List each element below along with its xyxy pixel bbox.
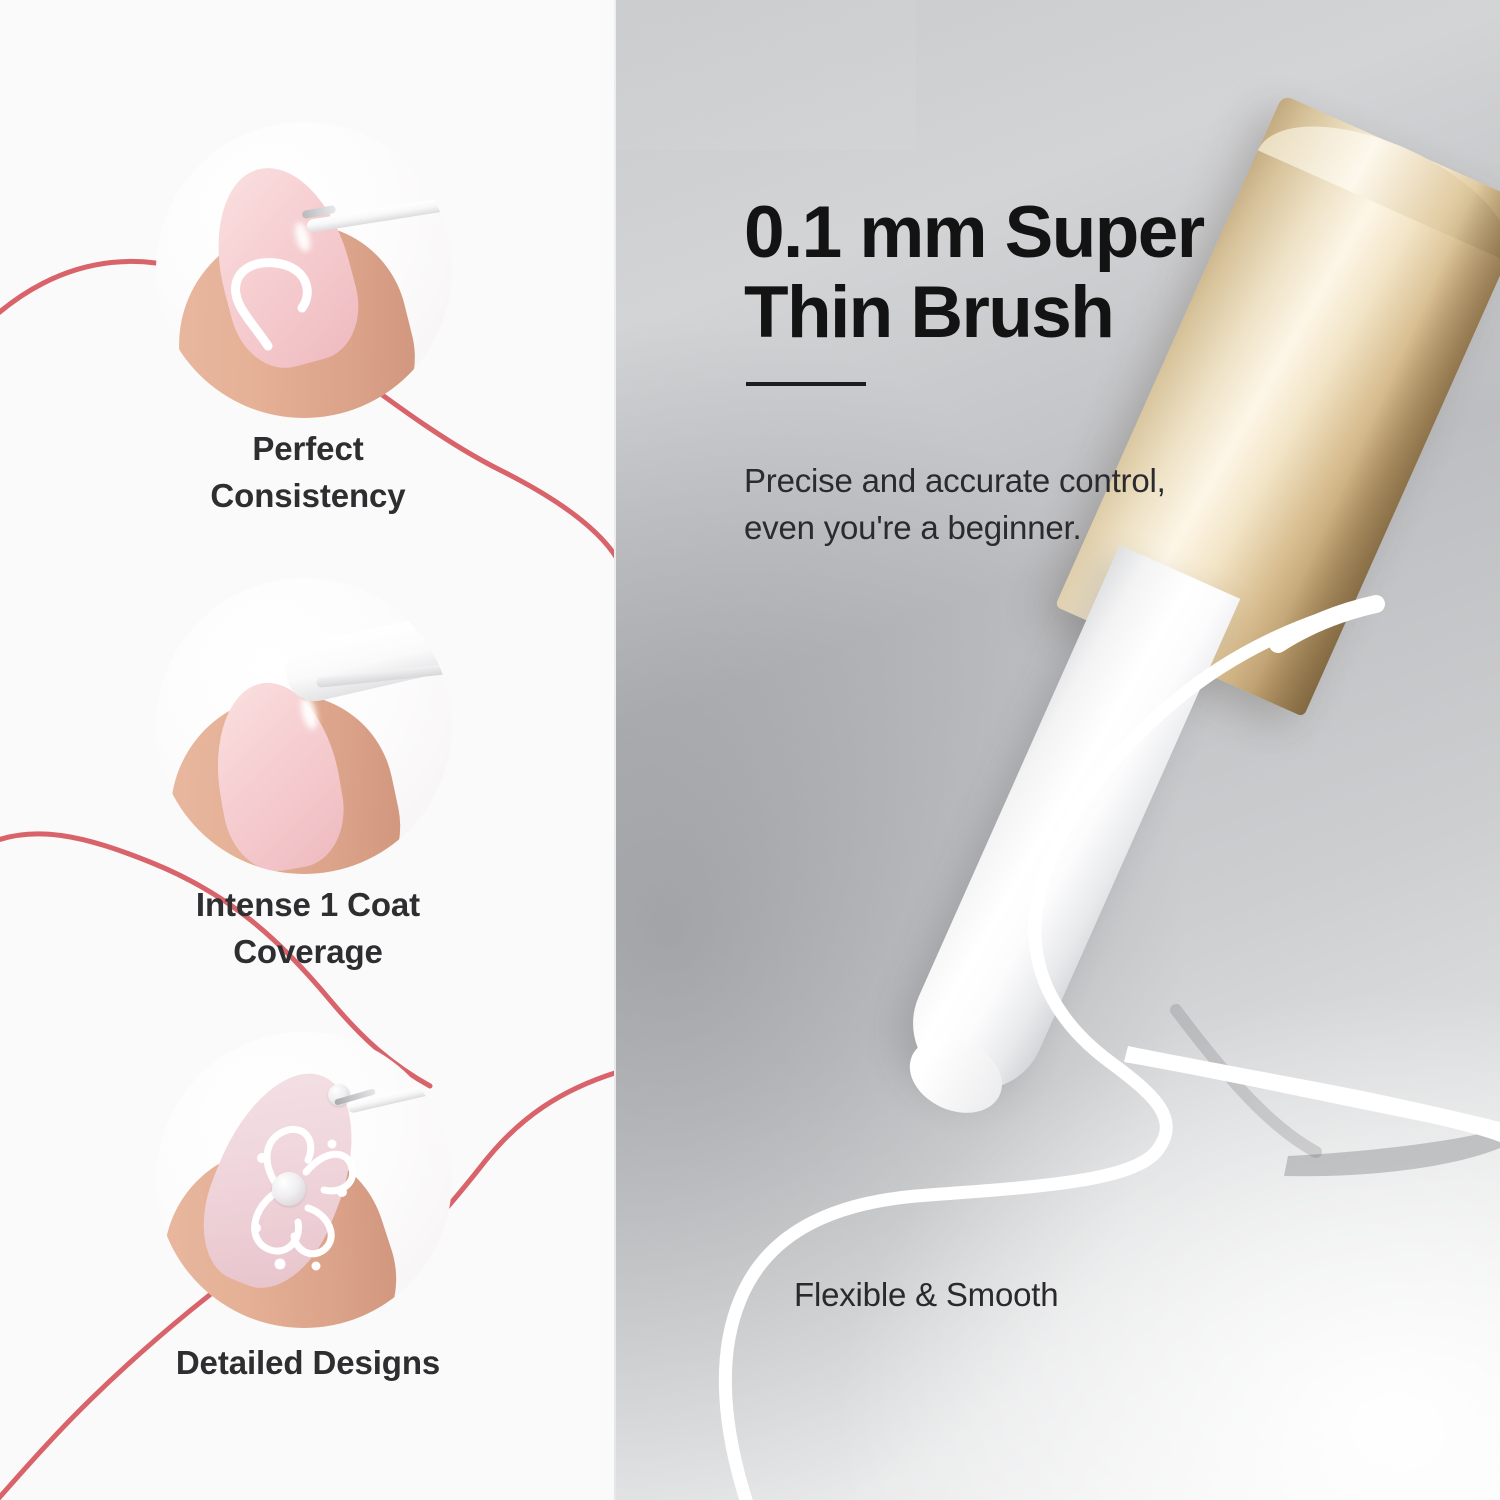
right-hero-panel: 0.1 mm Super Thin Brush Precise and accu… bbox=[616, 0, 1500, 1500]
label-line-1: Perfect bbox=[0, 426, 616, 473]
product-feature-graphic: Perfect Consistency Intense 1 Coat Co bbox=[0, 0, 1500, 1500]
label-line-2: Consistency bbox=[0, 473, 616, 520]
left-features-panel: Perfect Consistency Intense 1 Coat Co bbox=[0, 0, 616, 1500]
feature-photo-intense-coverage bbox=[156, 578, 452, 874]
white-swirl-stroke bbox=[156, 122, 452, 418]
feature-label-detailed-designs: Detailed Designs bbox=[0, 1340, 616, 1387]
nail-solid-pink-photo bbox=[156, 578, 452, 874]
title-underline-rule bbox=[746, 382, 866, 386]
subtitle-line-1: Precise and accurate control, bbox=[744, 462, 1166, 499]
feature-photo-perfect-consistency bbox=[156, 122, 452, 418]
bottom-caption: Flexible & Smooth bbox=[794, 1276, 1058, 1314]
headline-line-1: 0.1 mm Super bbox=[744, 192, 1204, 273]
headline-line-2: Thin Brush bbox=[744, 272, 1113, 353]
label-line-2: Coverage bbox=[0, 929, 616, 976]
nail-butterfly-design-photo bbox=[156, 1032, 452, 1328]
subtitle-line-2: even you're a beginner. bbox=[744, 509, 1081, 546]
pearl-bead-large bbox=[272, 1172, 306, 1206]
feature-label-intense-coverage: Intense 1 Coat Coverage bbox=[0, 882, 616, 976]
page-title: 0.1 mm Super Thin Brush bbox=[744, 193, 1394, 354]
feature-photo-detailed-designs bbox=[156, 1032, 452, 1328]
label-line-1: Detailed Designs bbox=[0, 1340, 616, 1387]
page-subtitle: Precise and accurate control, even you'r… bbox=[744, 458, 1344, 552]
feature-label-perfect-consistency: Perfect Consistency bbox=[0, 426, 616, 520]
nail-swirl-line-photo bbox=[156, 122, 452, 418]
label-line-1: Intense 1 Coat bbox=[0, 882, 616, 929]
